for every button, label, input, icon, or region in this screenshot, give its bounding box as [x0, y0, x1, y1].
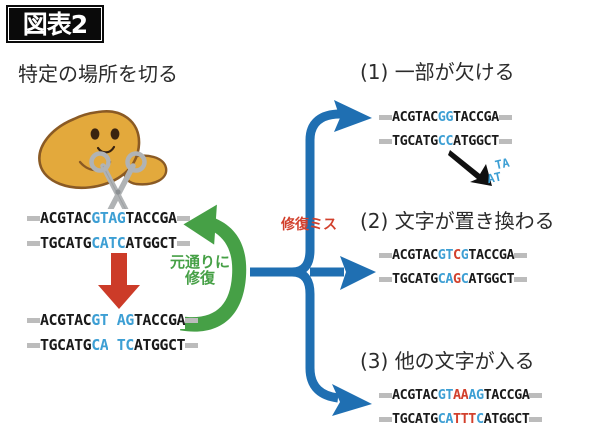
dna-base-run: G — [453, 271, 461, 287]
dna-base-run: ATGGCT — [134, 336, 185, 354]
blob-eye-right — [111, 128, 120, 139]
dna-original-top-strand: ACGTACGTAGTACCGA — [40, 208, 177, 227]
dna-base-run: CC — [438, 133, 453, 149]
dna-original-bottom-strand: TGCATGCATCATGGCT — [40, 233, 177, 252]
figure-canvas: 図表2 特定の場所を切る (1) 一部が欠ける (2) 文字が置き換わる (3)… — [0, 0, 600, 439]
dna-base-run: TGCATG — [40, 234, 91, 252]
dna-base-run: ACGTAC — [40, 209, 91, 227]
dna-outcome-1: ACGTACGGTACCGA TGCATGCCATGGCT — [392, 107, 499, 150]
heading-outcome-3: (3) 他の文字が入る — [360, 345, 535, 374]
figure-badge: 図表2 — [6, 5, 104, 43]
dna-base-run: AG — [468, 387, 483, 403]
cut-arrow-red — [96, 253, 142, 309]
dna-outcome1-top-strand: ACGTACGGTACCGA — [392, 107, 499, 126]
dna-outcome-3: ACGTACGTAAAGTACCGA TGCATGCATTTCATGGCT — [392, 385, 529, 428]
dna-base-run: GG — [438, 109, 453, 125]
dna-outcome2-top-strand: ACGTACGTCGTACCGA — [392, 245, 514, 264]
dna-after-cut: ACGTACGT AGTACCGA TGCATGCA TCATGGCT — [40, 310, 185, 354]
dna-base-run: TGCATG — [392, 271, 438, 287]
heading-outcome-1: (1) 一部が欠ける — [360, 56, 515, 85]
dna-base-run: TACCGA — [484, 387, 530, 403]
dna-outcome1-bottom-strand: TGCATGCCATGGCT — [392, 131, 499, 150]
dna-base-run: CATC — [91, 234, 125, 252]
dna-base-run: ACGTAC — [392, 387, 438, 403]
blob-eye-left — [91, 128, 100, 139]
dna-base-run: CA — [91, 336, 108, 354]
dna-base-run: ACGTAC — [392, 109, 438, 125]
dna-base-run: AA — [453, 387, 468, 403]
repair-error-branch-arrows — [248, 100, 378, 420]
dna-base-run: GT — [91, 311, 108, 329]
dna-base-run: TC — [117, 336, 134, 354]
repair-error-label: 修復ミス — [281, 214, 337, 234]
figure-badge-label: 図表2 — [8, 7, 102, 41]
dna-base-run: TACCGA — [134, 311, 185, 329]
dna-base-run: ATGGCT — [453, 133, 499, 149]
dna-base-run: TTT — [453, 411, 476, 427]
dna-original: ACGTACGTAGTACCGA TGCATGCATCATGGCT — [40, 208, 177, 252]
dna-cut-bottom-strand: TGCATGCA TCATGGCT — [40, 335, 185, 354]
arrowhead-outcome-2 — [340, 256, 376, 290]
dna-outcome3-top-strand: ACGTACGTAAAGTACCGA — [392, 385, 529, 404]
dna-outcome-2: ACGTACGTCGTACCGA TGCATGCAGCATGGCT — [392, 245, 514, 288]
dna-base-run: TACCGA — [468, 247, 514, 263]
dna-base-run: ATGGCT — [125, 234, 176, 252]
dna-base-run: TACCGA — [453, 109, 499, 125]
dna-base-run — [108, 336, 117, 354]
dna-base-run — [108, 311, 117, 329]
arrowhead-outcome-3 — [332, 384, 372, 416]
heading-outcome-2: (2) 文字が置き換わる — [360, 205, 555, 234]
dna-base-run: GTAG — [91, 209, 125, 227]
arrowhead-outcome-1 — [334, 100, 372, 132]
dna-base-run: GT — [438, 387, 453, 403]
restore-label: 元通りに 修復 — [163, 255, 237, 287]
dna-base-run: CA — [438, 411, 453, 427]
dna-base-run: ATGGCT — [468, 271, 514, 287]
dna-base-run: ATGGCT — [484, 411, 530, 427]
dna-base-run: TGCATG — [392, 133, 438, 149]
dna-base-run: ACGTAC — [392, 247, 438, 263]
dna-base-run: ACGTAC — [40, 311, 91, 329]
dna-base-run: TGCATG — [392, 411, 438, 427]
restore-label-line2: 修復 — [185, 269, 215, 287]
dna-cut-top-strand: ACGTACGT AGTACCGA — [40, 310, 185, 329]
fragment-bottom: AT — [486, 169, 510, 185]
dna-base-run: GT — [438, 247, 453, 263]
dna-base-run: C — [476, 411, 484, 427]
heading-cut-specific-site: 特定の場所を切る — [18, 58, 178, 87]
dna-base-run: TGCATG — [40, 336, 91, 354]
dna-base-run: C — [453, 247, 461, 263]
dna-base-run: CA — [438, 271, 453, 287]
dna-base-run: TACCGA — [125, 209, 176, 227]
dna-outcome2-bottom-strand: TGCATGCAGCATGGCT — [392, 269, 514, 288]
dna-base-run: AG — [117, 311, 134, 329]
dna-outcome3-bottom-strand: TGCATGCATTTCATGGCT — [392, 409, 529, 428]
deleted-fragment-bases: TA AT — [487, 158, 509, 183]
